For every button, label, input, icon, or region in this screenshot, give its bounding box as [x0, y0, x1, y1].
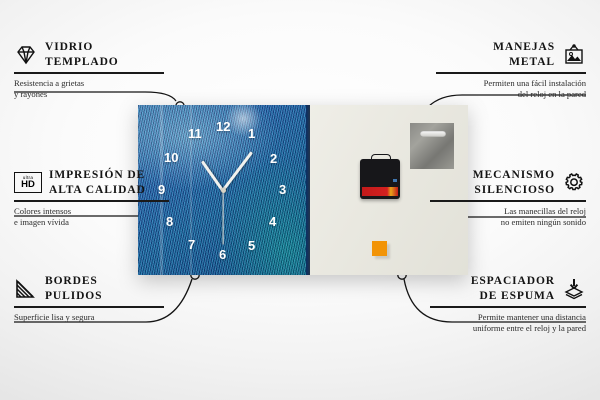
feature-rule [430, 306, 586, 307]
clock-numeral: 12 [216, 120, 230, 133]
feature-mecanismo-silencioso: MECANISMO SILENCIOSO Las manecillas del … [430, 168, 586, 229]
foam-spacer-square [372, 241, 387, 256]
clock-numeral: 3 [279, 183, 286, 196]
clock-hour-hand [201, 160, 224, 191]
clock-numeral: 1 [248, 127, 255, 140]
clock-center-pivot [221, 188, 226, 193]
feature-desc: Resistencia a grietas y rayones [14, 78, 164, 101]
clock-numeral: 10 [164, 151, 178, 164]
feature-title: MECANISMO SILENCIOSO [473, 168, 555, 197]
clock-numeral: 6 [219, 248, 226, 261]
infographic-stage: 12 1 2 3 4 5 6 7 8 9 10 11 [0, 0, 600, 400]
feature-vidrio-templado: VIDRIO TEMPLADO Resistencia a grietas y … [14, 40, 164, 101]
feature-rule [14, 72, 164, 73]
product-image: 12 1 2 3 4 5 6 7 8 9 10 11 [138, 105, 468, 275]
feature-rule [436, 72, 586, 73]
ultra-hd-big-text: HD [21, 180, 35, 190]
clock-second-hand [222, 191, 223, 245]
metal-hanger-plate [410, 123, 454, 169]
feature-title: IMPRESIÓN DE ALTA CALIDAD [49, 168, 146, 197]
feature-desc: Superficie lisa y segura [14, 312, 164, 324]
foam-spacer-icon [562, 277, 586, 301]
clock-numeral: 11 [188, 127, 202, 140]
hanger-slot [420, 131, 446, 137]
feature-title: ESPACIADOR DE ESPUMA [471, 274, 555, 303]
feature-rule [14, 306, 164, 307]
feature-rule [14, 200, 169, 201]
clock-numeral: 7 [188, 238, 195, 251]
mechanism-red-strip [362, 187, 398, 196]
feature-impresion-alta-calidad: ultra HD IMPRESIÓN DE ALTA CALIDAD Color… [14, 168, 169, 229]
mechanism-hook [371, 154, 391, 162]
feature-title: MANEJAS METAL [493, 40, 555, 69]
feature-rule [430, 200, 586, 201]
ultra-hd-icon: ultra HD [14, 172, 42, 193]
mechanism-label-dot [393, 179, 397, 182]
diamond-icon [14, 43, 38, 67]
polished-edge-icon [14, 277, 38, 301]
clock-numeral: 5 [248, 239, 255, 252]
clock-numeral: 2 [270, 152, 277, 165]
feature-title: BORDES PULIDOS [45, 274, 102, 303]
feature-manejas-metal: MANEJAS METAL Permiten una fácil instala… [436, 40, 586, 101]
gear-icon [562, 171, 586, 195]
feature-desc: Las manecillas del reloj no emiten ningú… [430, 206, 586, 229]
feature-desc: Permite mantener una distancia uniforme … [430, 312, 586, 335]
feature-title: VIDRIO TEMPLADO [45, 40, 119, 69]
feature-desc: Permiten una fácil instalación del reloj… [436, 78, 586, 101]
feature-bordes-pulidos: BORDES PULIDOS Superficie lisa y segura [14, 274, 164, 323]
feature-espaciador-espuma: ESPACIADOR DE ESPUMA Permite mantener un… [430, 274, 586, 335]
feature-desc: Colores intensos e imagen vívida [14, 206, 169, 229]
picture-hanger-icon [562, 43, 586, 67]
clock-numeral: 4 [269, 215, 276, 228]
clock-mechanism-box [360, 159, 400, 199]
clock-minute-hand [222, 151, 254, 191]
